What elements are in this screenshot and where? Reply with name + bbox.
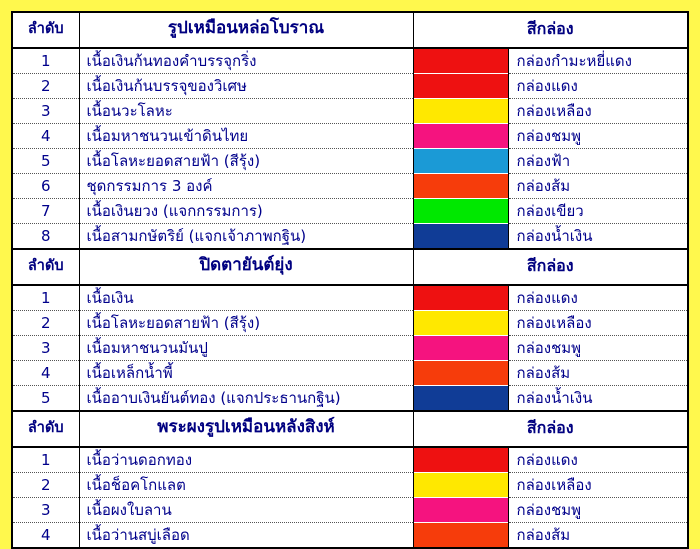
row-color-swatch xyxy=(413,311,508,336)
color-swatch-fill xyxy=(414,286,508,310)
row-index: 8 xyxy=(12,224,79,250)
table-row: 7เนื้อเงินยวง (แจกกรรมการ)กล่องเขียว xyxy=(12,199,688,224)
row-color-swatch xyxy=(413,174,508,199)
table-row: 1เนื้อว่านดอกทองกล่องแดง xyxy=(12,447,688,473)
row-color-swatch xyxy=(413,336,508,361)
row-color-label: กล่องส้ม xyxy=(508,174,688,199)
row-color-label: กล่องชมพู xyxy=(508,124,688,149)
row-material-name: เนื้อว่านดอกทอง xyxy=(79,447,413,473)
section-header-color: สีกล่อง xyxy=(413,249,688,285)
table-row: 6ชุดกรรมการ 3 องค์กล่องส้ม xyxy=(12,174,688,199)
row-color-swatch xyxy=(413,523,508,549)
color-swatch-fill xyxy=(414,523,508,547)
page-root: ลำดับรูปเหมือนหล่อโบราณสีกล่อง1เนื้อเงิน… xyxy=(0,0,700,549)
row-index: 4 xyxy=(12,124,79,149)
row-color-swatch xyxy=(413,149,508,174)
row-color-label: กล่องเหลือง xyxy=(508,473,688,498)
row-color-label: กล่องฟ้า xyxy=(508,149,688,174)
table-row: 2เนื้อเงินก้นบรรจุของวิเศษกล่องแดง xyxy=(12,74,688,99)
color-swatch-fill xyxy=(414,336,508,360)
row-index: 3 xyxy=(12,498,79,523)
table-row: 2เนื้อช็อคโกแลตกล่องเหลือง xyxy=(12,473,688,498)
row-index: 6 xyxy=(12,174,79,199)
section-header-color: สีกล่อง xyxy=(413,12,688,48)
row-material-name: เนื้อเงิน xyxy=(79,285,413,311)
row-index: 2 xyxy=(12,74,79,99)
row-index: 3 xyxy=(12,336,79,361)
section-header-row: ลำดับรูปเหมือนหล่อโบราณสีกล่อง xyxy=(12,12,688,48)
section-header-index: ลำดับ xyxy=(12,12,79,48)
row-index: 1 xyxy=(12,285,79,311)
row-index: 2 xyxy=(12,311,79,336)
row-material-name: เนื้อเงินก้นบรรจุของวิเศษ xyxy=(79,74,413,99)
row-index: 1 xyxy=(12,48,79,74)
row-color-label: กล่องเหลือง xyxy=(508,99,688,124)
color-swatch-fill xyxy=(414,99,508,123)
row-color-label: กล่องแดง xyxy=(508,74,688,99)
row-material-name: เนื้อว่านสบู่เลือด xyxy=(79,523,413,549)
row-index: 5 xyxy=(12,386,79,412)
row-index: 3 xyxy=(12,99,79,124)
row-color-label: กล่องส้ม xyxy=(508,523,688,549)
color-swatch-fill xyxy=(414,386,508,410)
row-material-name: เนื้อเงินยวง (แจกกรรมการ) xyxy=(79,199,413,224)
row-color-swatch xyxy=(413,285,508,311)
color-swatch-fill xyxy=(414,124,508,148)
section-header-title: รูปเหมือนหล่อโบราณ xyxy=(79,12,413,48)
color-swatch-fill xyxy=(414,224,508,248)
row-color-label: กล่องแดง xyxy=(508,285,688,311)
color-swatch-fill xyxy=(414,448,508,472)
row-color-swatch xyxy=(413,99,508,124)
row-color-swatch xyxy=(413,361,508,386)
section-header-row: ลำดับปิดตายันต์ยุ่งสีกล่อง xyxy=(12,249,688,285)
row-index: 4 xyxy=(12,361,79,386)
color-swatch-fill xyxy=(414,361,508,385)
row-index: 7 xyxy=(12,199,79,224)
color-swatch-fill xyxy=(414,174,508,198)
row-color-label: กล่องชมพู xyxy=(508,336,688,361)
row-color-swatch xyxy=(413,124,508,149)
row-color-label: กล่องน้ำเงิน xyxy=(508,386,688,412)
row-color-label: กล่องน้ำเงิน xyxy=(508,224,688,250)
table-row: 1เนื้อเงินกล่องแดง xyxy=(12,285,688,311)
table-row: 4เนื้อว่านสบู่เลือดกล่องส้ม xyxy=(12,523,688,549)
row-material-name: เนื้อสามกษัตริย์ (แจกเจ้าภาพกฐิน) xyxy=(79,224,413,250)
row-color-label: กล่องกำมะหยี่แดง xyxy=(508,48,688,74)
amulet-box-color-table: ลำดับรูปเหมือนหล่อโบราณสีกล่อง1เนื้อเงิน… xyxy=(11,11,689,549)
row-color-swatch xyxy=(413,473,508,498)
color-swatch-fill xyxy=(414,473,508,497)
row-material-name: เนื้อช็อคโกแลต xyxy=(79,473,413,498)
row-index: 2 xyxy=(12,473,79,498)
table-row: 8เนื้อสามกษัตริย์ (แจกเจ้าภาพกฐิน)กล่องน… xyxy=(12,224,688,250)
table-row: 3เนื้อนวะโลหะกล่องเหลือง xyxy=(12,99,688,124)
row-material-name: เนื้อมหาชนวนมันปู xyxy=(79,336,413,361)
section-header-title: พระผงรูปเหมือนหลังสิงห์ xyxy=(79,411,413,447)
table-row: 5เนื้อโลหะยอดสายฟ้า (สีรุ้ง)กล่องฟ้า xyxy=(12,149,688,174)
row-material-name: เนื้ออาบเงินยันต์ทอง (แจกประธานกฐิน) xyxy=(79,386,413,412)
section-header-row: ลำดับพระผงรูปเหมือนหลังสิงห์สีกล่อง xyxy=(12,411,688,447)
row-color-label: กล่องเขียว xyxy=(508,199,688,224)
row-material-name: เนื้อเงินก้นทองคำบรรจุกริ่ง xyxy=(79,48,413,74)
row-color-swatch xyxy=(413,447,508,473)
row-material-name: เนื้อผงใบลาน xyxy=(79,498,413,523)
table-row: 4เนื้อมหาชนวนเข้าดินไทยกล่องชมพู xyxy=(12,124,688,149)
row-color-swatch xyxy=(413,48,508,74)
row-index: 5 xyxy=(12,149,79,174)
section-header-color: สีกล่อง xyxy=(413,411,688,447)
section-header-index: ลำดับ xyxy=(12,249,79,285)
table-row: 4เนื้อเหล็กน้ำพี้กล่องส้ม xyxy=(12,361,688,386)
table-row: 2เนื้อโลหะยอดสายฟ้า (สีรุ้ง)กล่องเหลือง xyxy=(12,311,688,336)
row-material-name: เนื้อมหาชนวนเข้าดินไทย xyxy=(79,124,413,149)
row-material-name: เนื้อเหล็กน้ำพี้ xyxy=(79,361,413,386)
row-index: 4 xyxy=(12,523,79,549)
row-material-name: เนื้อโลหะยอดสายฟ้า (สีรุ้ง) xyxy=(79,311,413,336)
section-header-title: ปิดตายันต์ยุ่ง xyxy=(79,249,413,285)
color-swatch-fill xyxy=(414,74,508,98)
row-color-swatch xyxy=(413,386,508,412)
section-header-index: ลำดับ xyxy=(12,411,79,447)
color-swatch-fill xyxy=(414,149,508,173)
row-color-swatch xyxy=(413,199,508,224)
color-swatch-fill xyxy=(414,49,508,73)
row-color-label: กล่องชมพู xyxy=(508,498,688,523)
row-color-swatch xyxy=(413,224,508,250)
table-body: ลำดับรูปเหมือนหล่อโบราณสีกล่อง1เนื้อเงิน… xyxy=(12,12,688,548)
row-color-swatch xyxy=(413,74,508,99)
row-color-label: กล่องเหลือง xyxy=(508,311,688,336)
row-material-name: เนื้อโลหะยอดสายฟ้า (สีรุ้ง) xyxy=(79,149,413,174)
table-row: 1เนื้อเงินก้นทองคำบรรจุกริ่งกล่องกำมะหยี… xyxy=(12,48,688,74)
table-row: 3เนื้อมหาชนวนมันปูกล่องชมพู xyxy=(12,336,688,361)
color-swatch-fill xyxy=(414,199,508,223)
row-material-name: เนื้อนวะโลหะ xyxy=(79,99,413,124)
row-color-label: กล่องส้ม xyxy=(508,361,688,386)
color-swatch-fill xyxy=(414,311,508,335)
color-swatch-fill xyxy=(414,498,508,522)
table-row: 5เนื้ออาบเงินยันต์ทอง (แจกประธานกฐิน)กล่… xyxy=(12,386,688,412)
table-row: 3เนื้อผงใบลานกล่องชมพู xyxy=(12,498,688,523)
row-material-name: ชุดกรรมการ 3 องค์ xyxy=(79,174,413,199)
row-index: 1 xyxy=(12,447,79,473)
row-color-label: กล่องแดง xyxy=(508,447,688,473)
row-color-swatch xyxy=(413,498,508,523)
